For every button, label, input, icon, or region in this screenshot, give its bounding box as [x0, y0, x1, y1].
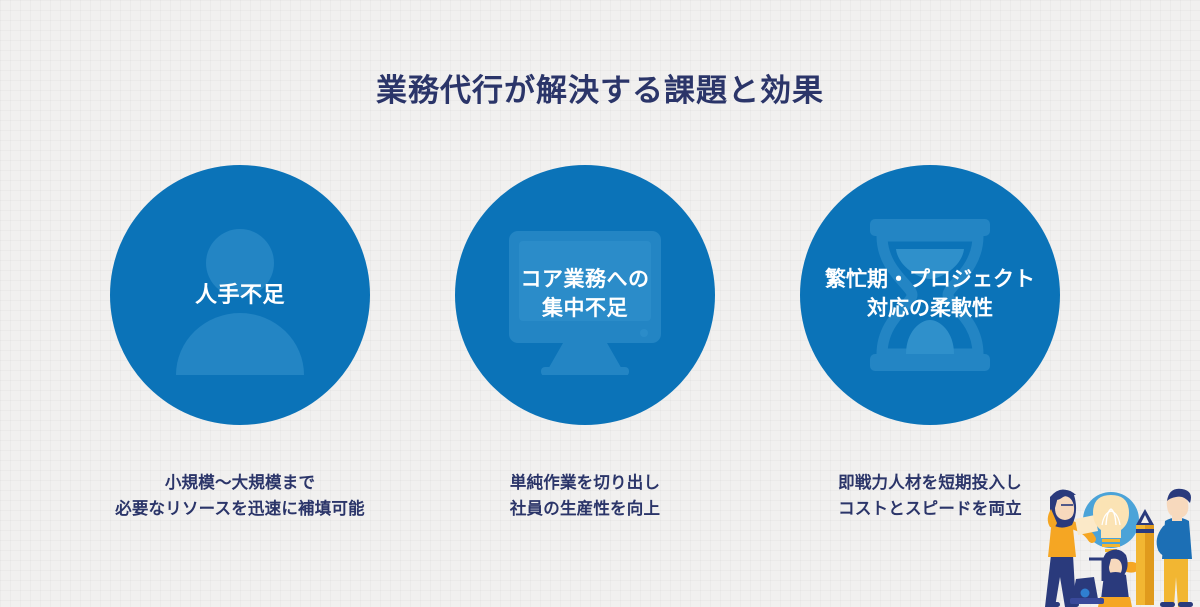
pillar-caption-2: 単純作業を切り出し 社員の生産性を向上	[435, 471, 735, 522]
pillar-circle-3: 繁忙期・プロジェクト 対応の柔軟性	[800, 165, 1060, 425]
girl-with-laptop	[1070, 549, 1140, 607]
pillar-card-2: コア業務への 集中不足 単純作業を切り出し 社員の生産性を向上	[435, 165, 735, 522]
pillar-title-1: 人手不足	[195, 280, 285, 310]
slide-canvas: 業務代行が解決する課題と効果 人手不足 小規模〜大規模まで 必要なリソースを迅速…	[0, 0, 1200, 607]
pillar-circle-2: コア業務への 集中不足	[455, 165, 715, 425]
pillar-title-2: コア業務への 集中不足	[521, 266, 650, 324]
pillar-card-1: 人手不足 小規模〜大規模まで 必要なリソースを迅速に補填可能	[90, 165, 390, 522]
pillar-caption-1: 小規模〜大規模まで 必要なリソースを迅速に補填可能	[90, 471, 390, 522]
pillar-title-3: 繁忙期・プロジェクト 対応の柔軟性	[825, 266, 1035, 324]
page-title: 業務代行が解決する課題と効果	[0, 72, 1200, 109]
pillar-circle-1: 人手不足	[110, 165, 370, 425]
pencil-icon	[1136, 509, 1154, 605]
man-standing	[1160, 489, 1193, 607]
team-ideas-illustration	[1028, 467, 1200, 607]
